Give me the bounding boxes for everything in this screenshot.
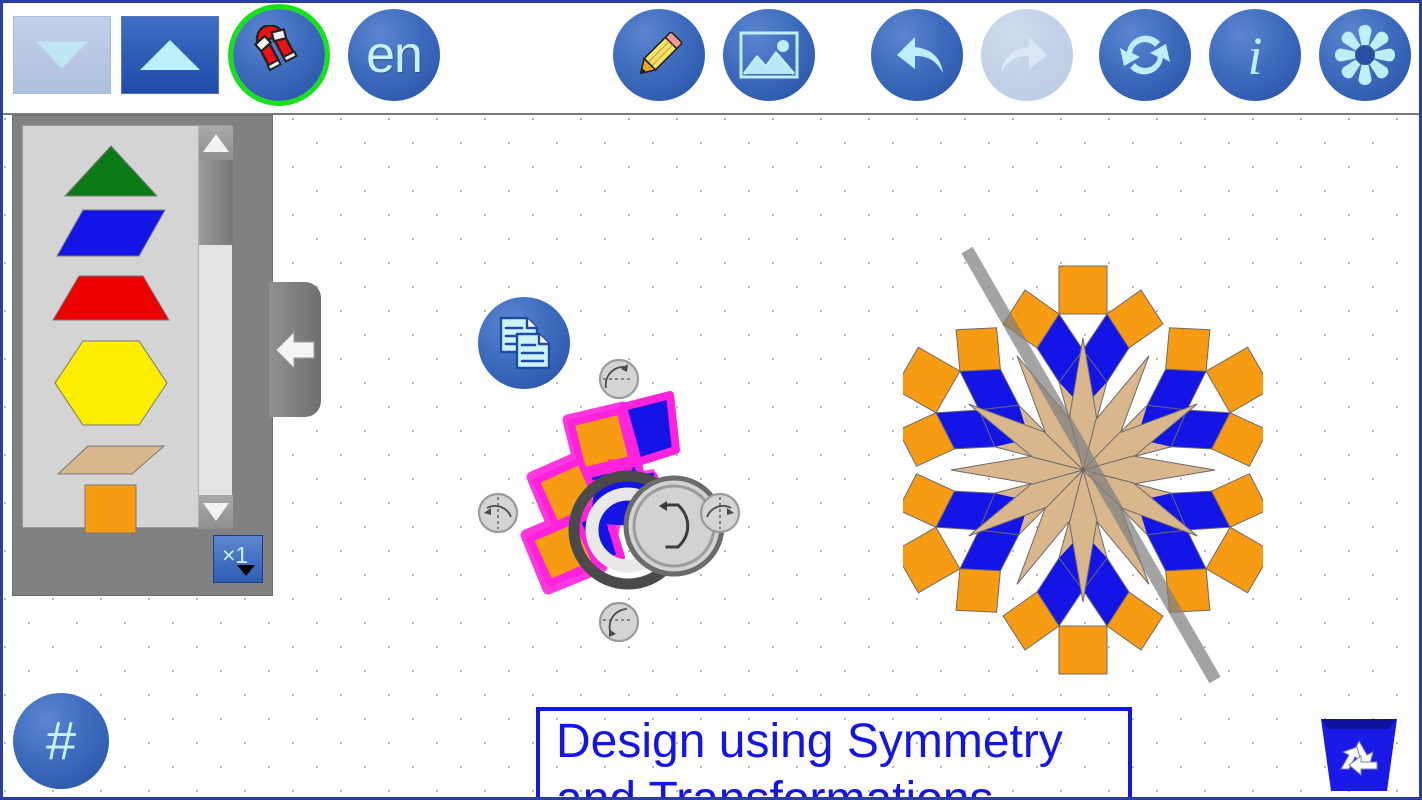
multiplier-button[interactable]: ×1 xyxy=(213,535,263,583)
palette-scrollbar[interactable] xyxy=(198,126,232,529)
hexagon-shape-icon xyxy=(52,339,170,427)
caption-line-1: Design using Symmetry xyxy=(556,713,1112,771)
toolbar: en xyxy=(3,3,1419,115)
triangle-shape-icon xyxy=(61,144,161,198)
undo-arrow-icon xyxy=(885,25,949,85)
palette-item-orange-square[interactable] xyxy=(23,483,198,540)
rotate-handle-top[interactable] xyxy=(597,357,641,401)
language-button[interactable]: en xyxy=(348,9,440,101)
shape-list xyxy=(23,126,198,529)
rhombus-shape-icon xyxy=(53,208,169,258)
palette-collapse-handle[interactable] xyxy=(269,282,321,417)
flip-handle-left[interactable] xyxy=(476,491,520,535)
trapezoid-shape-icon xyxy=(49,274,173,322)
image-button[interactable] xyxy=(723,9,815,101)
info-icon: i xyxy=(1235,24,1275,86)
svg-text:i: i xyxy=(1247,26,1262,86)
symmetry-rosette[interactable] xyxy=(903,240,1263,700)
recycle-bin-icon xyxy=(1311,707,1407,793)
triangle-down-icon xyxy=(36,42,88,69)
reset-button[interactable] xyxy=(1099,9,1191,101)
palette-item-blue-rhombus[interactable] xyxy=(23,208,198,263)
settings-button[interactable] xyxy=(1319,9,1411,101)
scrollbar-up-button[interactable] xyxy=(199,126,233,160)
app-window: en xyxy=(0,0,1422,800)
grid-toggle-label: # xyxy=(46,710,76,772)
redo-arrow-icon xyxy=(995,25,1059,85)
magnet-snap-button[interactable] xyxy=(233,9,325,101)
design-canvas[interactable]: ×1 xyxy=(3,115,1419,797)
rosette-svg xyxy=(903,240,1263,700)
caret-down-icon xyxy=(237,565,255,576)
square-shape-icon xyxy=(83,483,139,535)
refresh-icon xyxy=(1114,24,1176,86)
scrollbar-down-button[interactable] xyxy=(199,495,233,529)
sun-gear-icon xyxy=(1332,22,1398,88)
redo-button[interactable] xyxy=(981,9,1073,101)
palette-item-red-trapezoid[interactable] xyxy=(23,274,198,327)
pencil-icon xyxy=(628,24,690,86)
info-button[interactable]: i xyxy=(1209,9,1301,101)
shape-palette-list xyxy=(22,125,231,528)
triangle-down-icon xyxy=(203,503,229,521)
triangle-up-icon xyxy=(203,134,229,152)
arrow-left-icon xyxy=(274,324,316,376)
grid-toggle-button[interactable]: # xyxy=(13,693,109,789)
undo-button[interactable] xyxy=(871,9,963,101)
scroll-down-button[interactable] xyxy=(13,16,111,94)
design-caption[interactable]: Design using Symmetry and Transformation… xyxy=(536,707,1132,797)
scroll-up-button[interactable] xyxy=(121,16,219,94)
picture-icon xyxy=(738,29,800,81)
caption-line-2: and Transformations xyxy=(556,771,1112,797)
pencil-draw-button[interactable] xyxy=(613,9,705,101)
palette-item-tan-thin-rhombus[interactable] xyxy=(23,444,198,481)
triangle-up-icon xyxy=(140,40,200,70)
magnet-icon xyxy=(249,25,309,85)
shape-palette: ×1 xyxy=(12,115,273,596)
language-label: en xyxy=(366,29,422,81)
palette-item-yellow-hexagon[interactable] xyxy=(23,339,198,432)
scrollbar-thumb[interactable] xyxy=(199,160,233,245)
rotate-handle-bottom[interactable] xyxy=(597,600,641,644)
trash-button[interactable] xyxy=(1311,707,1407,793)
thin-rhombus-shape-icon xyxy=(56,444,166,476)
palette-item-green-triangle[interactable] xyxy=(23,144,198,203)
flip-handle-right[interactable] xyxy=(698,491,742,535)
